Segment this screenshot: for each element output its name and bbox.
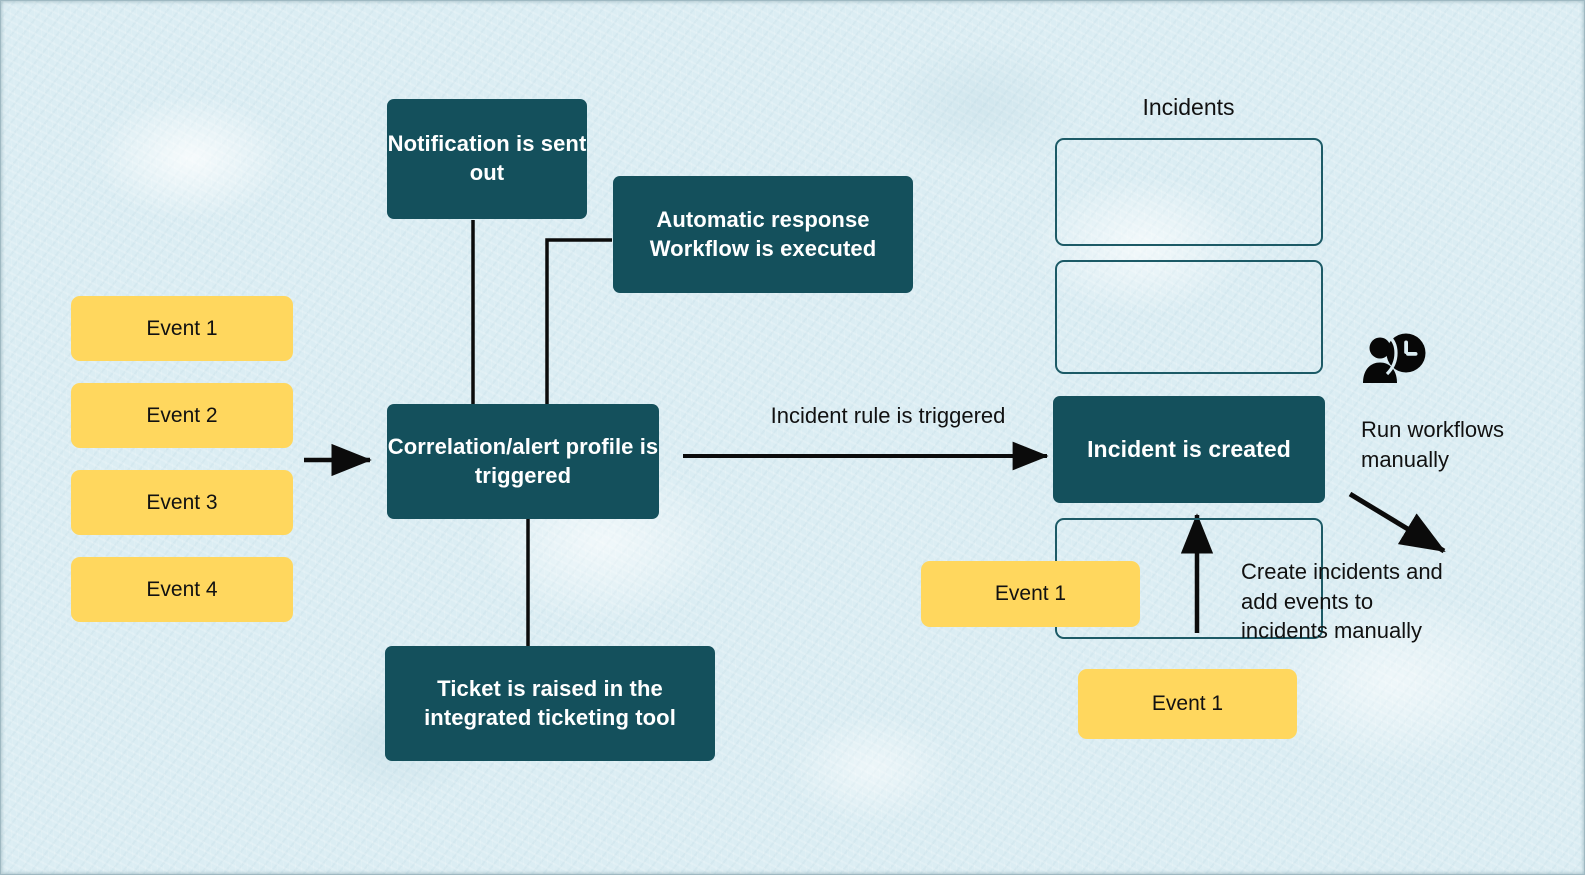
node-incident-created-label: Incident is created: [1087, 435, 1291, 465]
manual-event-box-2-label: Event 1: [1152, 690, 1223, 717]
person-clock-icon: [1361, 331, 1429, 387]
event-box-3-label: Event 3: [146, 489, 217, 516]
label-create-incidents-manually: Create incidents and add events to incid…: [1241, 557, 1491, 646]
node-ticket-raised-label: Ticket is raised in the integrated ticke…: [385, 675, 715, 732]
manual-event-box-1-label: Event 1: [995, 580, 1066, 607]
node-automatic-response-workflow-label: Automatic response Workflow is executed: [613, 206, 913, 263]
incidents-heading: Incidents: [1056, 94, 1321, 121]
incident-placeholder-box-1[interactable]: [1055, 138, 1323, 246]
event-box-1-label: Event 1: [146, 315, 217, 342]
node-notification-sent[interactable]: Notification is sent out: [387, 99, 587, 219]
node-notification-sent-label: Notification is sent out: [387, 130, 587, 187]
node-incident-created[interactable]: Incident is created: [1053, 396, 1325, 503]
event-box-4[interactable]: Event 4: [71, 557, 293, 622]
event-box-2[interactable]: Event 2: [71, 383, 293, 448]
incident-placeholder-box-2[interactable]: [1055, 260, 1323, 374]
manual-event-box-2[interactable]: Event 1: [1078, 669, 1297, 739]
node-ticket-raised[interactable]: Ticket is raised in the integrated ticke…: [385, 646, 715, 761]
person-clock-icon-svg: [1361, 331, 1429, 387]
event-box-1[interactable]: Event 1: [71, 296, 293, 361]
connector-automatic-response-to-correlation: [547, 240, 612, 405]
event-box-3[interactable]: Event 3: [71, 470, 293, 535]
event-box-4-label: Event 4: [146, 576, 217, 603]
arrow-run-workflows-manually: [1350, 494, 1444, 551]
event-box-2-label: Event 2: [146, 402, 217, 429]
label-run-workflows-manually: Run workflows manually: [1361, 415, 1581, 474]
node-correlation-alert-profile-label: Correlation/alert profile is triggered: [387, 433, 659, 490]
diagram-canvas: Event 1 Event 2 Event 3 Event 4 Notifica…: [0, 0, 1585, 875]
node-automatic-response-workflow[interactable]: Automatic response Workflow is executed: [613, 176, 913, 293]
manual-event-box-1[interactable]: Event 1: [921, 561, 1140, 627]
node-correlation-alert-profile[interactable]: Correlation/alert profile is triggered: [387, 404, 659, 519]
label-incident-rule-triggered: Incident rule is triggered: [723, 401, 1053, 431]
